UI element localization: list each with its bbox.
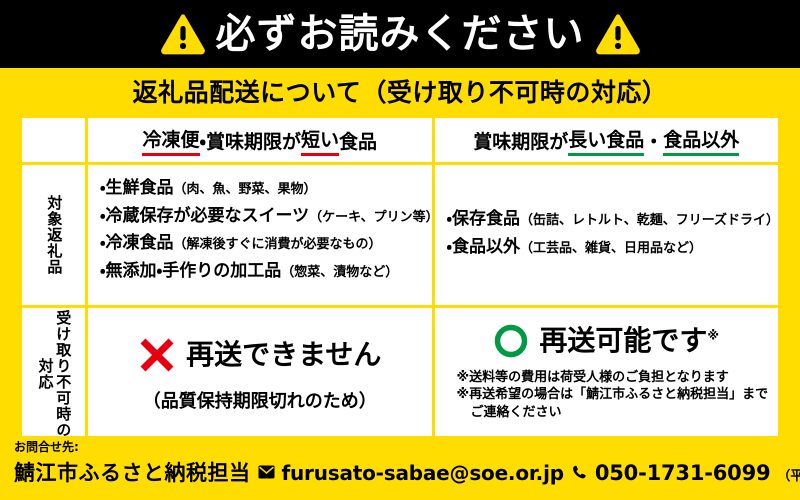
list-item-sub: （ケーキ、プリン等） bbox=[309, 210, 431, 225]
list-item-main: 保存食品 bbox=[452, 209, 520, 229]
warning-triangle-icon bbox=[160, 13, 206, 55]
telephone-icon bbox=[571, 465, 588, 479]
subtitle-bar: 返礼品配送について（受け取り不可時の対応） bbox=[0, 68, 800, 116]
list-item: ・生鮮食品（肉、魚、野菜、果物） bbox=[100, 179, 424, 198]
footer-email[interactable]: furusato-sabae@soe.or.jp bbox=[282, 461, 564, 485]
list-item-main: 食品以外 bbox=[452, 237, 520, 257]
response-right-headline: 再送可能です※ bbox=[493, 323, 719, 359]
column-header-part: 冷凍便 bbox=[142, 125, 199, 156]
list-item: ・冷凍食品（解凍後すぐに消費が必要なもの） bbox=[100, 234, 424, 253]
list-item-main: 生鮮食品 bbox=[105, 178, 173, 198]
list-item-main: 冷蔵保存が必要なスイーツ bbox=[105, 206, 309, 226]
list-item-sub: （工芸品、雑貨、日用品など） bbox=[520, 241, 702, 256]
row-label-undelivered-response: 受け取り不可時の対応 bbox=[22, 308, 85, 440]
column-header-short-shelf-life: 冷凍便・賞味期限が短い食品 bbox=[88, 118, 432, 162]
list-item: ・保存食品（缶詰、レトルト、乾麺、フリーズドライ） bbox=[447, 210, 771, 229]
row-label-target-items: 対象返礼品 bbox=[22, 165, 85, 305]
footer-contact-line: 鯖江市ふるさと納税担当 furusato-sabae@soe.or.jp 050… bbox=[14, 457, 800, 487]
column-header-long-shelf-life: 賞味期限が長い食品・食品以外 bbox=[435, 118, 779, 162]
response-left-note: （品質保持期限切れのため） bbox=[143, 387, 377, 413]
target-items-left-list: ・生鮮食品（肉、魚、野菜、果物） ・冷蔵保存が必要なスイーツ（ケーキ、プリン等）… bbox=[88, 165, 432, 305]
footer-phone[interactable]: 050-1731-6099 bbox=[595, 461, 771, 485]
page-title: 必ずお読みください bbox=[216, 14, 585, 54]
list-item-sub: （缶詰、レトルト、乾麺、フリーズドライ） bbox=[520, 213, 778, 228]
footer-label: お問合せ先: bbox=[14, 440, 800, 454]
column-header-part: 食品以外 bbox=[663, 125, 739, 156]
column-header-part: 食品 bbox=[339, 127, 377, 154]
list-item: ・無添加・手作りの加工品（惣菜、漬物など） bbox=[100, 262, 424, 281]
note-line: ※再送希望の場合は「鯖江市ふるさと納税担当」まで bbox=[457, 386, 771, 403]
response-right-cell: 再送可能です※ ※送料等の費用は荷受人様のご負担となります ※再送希望の場合は「… bbox=[435, 308, 779, 440]
table-corner-cell bbox=[22, 118, 85, 162]
response-right-text: 再送可能です※ bbox=[539, 327, 719, 355]
note-line-continued-text: ご連絡ください bbox=[457, 404, 562, 421]
list-item: ・食品以外（工芸品、雑貨、日用品など） bbox=[447, 238, 771, 257]
notice-poster: 必ずお読みください 返礼品配送について（受け取り不可時の対応） 冷凍便・賞味期限… bbox=[0, 0, 800, 500]
column-header-part: 長い食品 bbox=[568, 125, 644, 156]
cross-mark-icon bbox=[138, 336, 176, 374]
envelope-icon bbox=[258, 465, 275, 479]
response-right-notes: ※送料等の費用は荷受人様のご負担となります ※再送希望の場合は「鯖江市ふるさと納… bbox=[443, 369, 771, 420]
comparison-table: 冷凍便・賞味期限が短い食品 賞味期限が長い食品・食品以外 対象返礼品 ・生鮮食品… bbox=[22, 118, 778, 434]
asterisk-mark: ※ bbox=[707, 329, 719, 343]
note-line-continued: ご連絡ください bbox=[457, 404, 771, 421]
column-header-part: ・ bbox=[644, 127, 663, 154]
list-item-sub: （惣菜、漬物など） bbox=[281, 265, 398, 280]
list-item-sub: （解凍後すぐに消費が必要なもの） bbox=[173, 237, 381, 252]
response-left-text: 再送できません bbox=[186, 341, 381, 369]
column-header-part: 短い bbox=[301, 125, 339, 156]
footer-hours: （平日10:00-17:00対応） bbox=[777, 465, 800, 484]
footer-contact-bar: お問合せ先: 鯖江市ふるさと納税担当 furusato-sabae@soe.or… bbox=[0, 436, 800, 500]
header-bar: 必ずお読みください bbox=[0, 0, 800, 68]
target-items-right-list: ・保存食品（缶詰、レトルト、乾麺、フリーズドライ） ・食品以外（工芸品、雑貨、日… bbox=[435, 165, 779, 305]
response-left-cell: 再送できません （品質保持期限切れのため） bbox=[88, 308, 432, 440]
note-line: ※送料等の費用は荷受人様のご負担となります bbox=[457, 369, 771, 386]
warning-triangle-icon bbox=[595, 13, 641, 55]
list-item-main: 冷凍食品 bbox=[105, 233, 173, 253]
subtitle-text: 返礼品配送について（受け取り不可時の対応） bbox=[133, 80, 668, 105]
response-right-label: 再送可能です bbox=[539, 324, 707, 357]
circle-mark-icon bbox=[493, 323, 529, 359]
column-header-part: ・賞味期限が bbox=[200, 127, 301, 154]
column-header-part: 賞味期限が bbox=[473, 127, 568, 154]
list-item: ・冷蔵保存が必要なスイーツ（ケーキ、プリン等） bbox=[100, 207, 424, 226]
list-item-main: 無添加・手作りの加工品 bbox=[105, 261, 281, 281]
footer-department: 鯖江市ふるさと納税担当 bbox=[14, 457, 251, 487]
list-item-sub: （肉、魚、野菜、果物） bbox=[173, 182, 316, 197]
response-left-headline: 再送できません bbox=[138, 336, 381, 374]
